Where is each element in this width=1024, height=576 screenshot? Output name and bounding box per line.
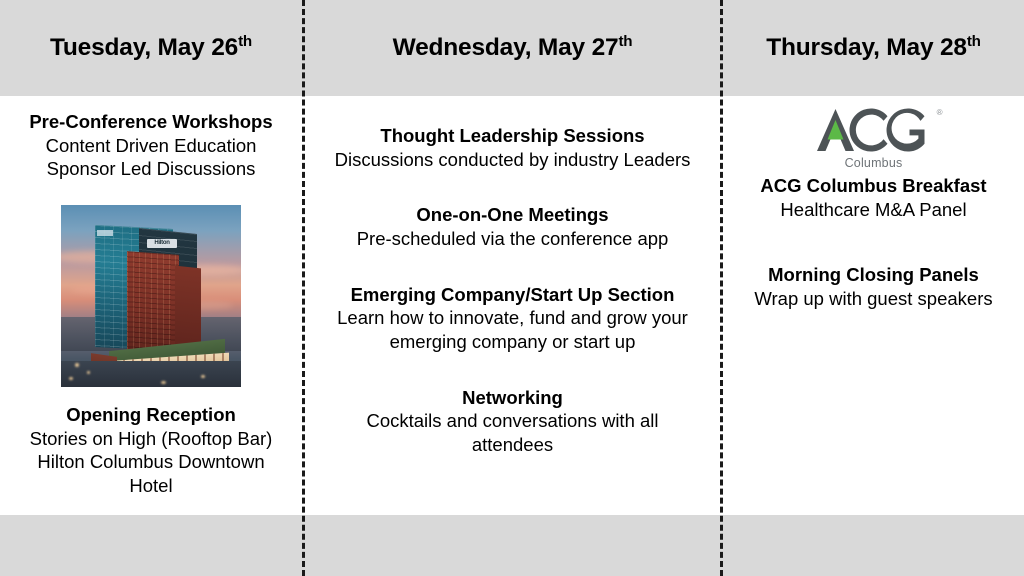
spacer: [729, 221, 1018, 263]
day-title-thursday: Thursday, May 28th: [766, 34, 981, 62]
hotel-rooftop-sign: Hilton: [147, 239, 177, 248]
agenda-block-acg-columbus-breakfast: ACG Columbus Breakfast Healthcare M&A Pa…: [729, 174, 1018, 221]
agenda-block-emerging-company-start-up-section: Emerging Company/Start Up Section Learn …: [309, 283, 716, 354]
block-line: Healthcare M&A Panel: [729, 198, 1018, 222]
acg-logo-icon: [814, 106, 934, 154]
day-ordinal-wednesday: th: [618, 33, 632, 50]
day-label-thursday: Thursday, May 28: [766, 34, 967, 61]
hilton-columbus-downtown-photo: Hilton: [61, 205, 241, 387]
street-light: [161, 381, 166, 384]
block-title: Thought Leadership Sessions: [309, 124, 716, 148]
column-tuesday: Tuesday, May 26th Pre-Conference Worksho…: [0, 0, 302, 576]
block-line: Hilton Columbus Downtown: [8, 450, 294, 474]
block-line: Hotel: [8, 474, 294, 498]
column-body-thursday: ® Columbus ACG Columbus Breakfast Health…: [723, 96, 1024, 311]
block-title: Opening Reception: [8, 403, 294, 427]
day-ordinal-tuesday: th: [238, 33, 252, 50]
day-title-wednesday: Wednesday, May 27th: [393, 34, 633, 62]
block-line: Discussions conducted by industry Leader…: [309, 148, 716, 172]
brick-tower: [127, 251, 179, 359]
day-label-tuesday: Tuesday, May 26: [50, 34, 238, 61]
agenda-block-pre-conference-workshops: Pre-Conference Workshops Content Driven …: [8, 110, 294, 181]
conference-agenda-board: Tuesday, May 26th Pre-Conference Worksho…: [0, 0, 1024, 576]
block-line: Sponsor Led Discussions: [8, 157, 294, 181]
column-divider-right: [720, 0, 723, 576]
block-line: Cocktails and conversations with all: [309, 409, 716, 433]
column-wednesday: Wednesday, May 27th Thought Leadership S…: [305, 0, 720, 576]
block-line: Learn how to innovate, fund and grow you…: [309, 306, 716, 330]
block-line: Pre-scheduled via the conference app: [309, 227, 716, 251]
block-title: Emerging Company/Start Up Section: [309, 283, 716, 307]
acg-columbus-logo: ® Columbus: [729, 106, 1018, 170]
column-body-wednesday: Thought Leadership Sessions Discussions …: [305, 96, 720, 457]
hotel-photo-container: Hilton: [8, 205, 294, 387]
street-light: [75, 363, 79, 367]
block-title: ACG Columbus Breakfast: [729, 174, 1018, 198]
block-title: Pre-Conference Workshops: [8, 110, 294, 134]
block-title: Networking: [309, 386, 716, 410]
day-title-tuesday: Tuesday, May 26th: [50, 34, 252, 62]
column-header-thursday: Thursday, May 28th: [723, 0, 1024, 96]
rooftop-sign-secondary: [97, 230, 113, 236]
block-title: One-on-One Meetings: [309, 203, 716, 227]
block-line: Content Driven Education: [8, 134, 294, 158]
block-title: Morning Closing Panels: [729, 263, 1018, 287]
block-line: Wrap up with guest speakers: [729, 287, 1018, 311]
street-light: [69, 377, 73, 380]
acg-wordmark: ®: [814, 106, 934, 159]
column-divider-left: [302, 0, 305, 576]
day-label-wednesday: Wednesday, May 27: [393, 34, 619, 61]
column-header-wednesday: Wednesday, May 27th: [305, 0, 720, 96]
agenda-block-thought-leadership-sessions: Thought Leadership Sessions Discussions …: [309, 124, 716, 171]
block-line: emerging company or start up: [309, 330, 716, 354]
agenda-block-morning-closing-panels: Morning Closing Panels Wrap up with gues…: [729, 263, 1018, 310]
street-light: [201, 375, 205, 378]
agenda-block-one-on-one-meetings: One-on-One Meetings Pre-scheduled via th…: [309, 203, 716, 250]
block-line: Stories on High (Rooftop Bar): [8, 427, 294, 451]
street-light: [87, 371, 90, 374]
street-level: [61, 361, 241, 387]
agenda-block-networking: Networking Cocktails and conversations w…: [309, 386, 716, 457]
day-ordinal-thursday: th: [967, 33, 981, 50]
column-thursday: Thursday, May 28th ® Colum: [723, 0, 1024, 576]
registered-trademark-icon: ®: [937, 108, 943, 117]
column-body-tuesday: Pre-Conference Workshops Content Driven …: [0, 96, 302, 498]
column-header-tuesday: Tuesday, May 26th: [0, 0, 302, 96]
agenda-block-opening-reception: Opening Reception Stories on High (Rooft…: [8, 403, 294, 498]
block-line: attendees: [309, 433, 716, 457]
